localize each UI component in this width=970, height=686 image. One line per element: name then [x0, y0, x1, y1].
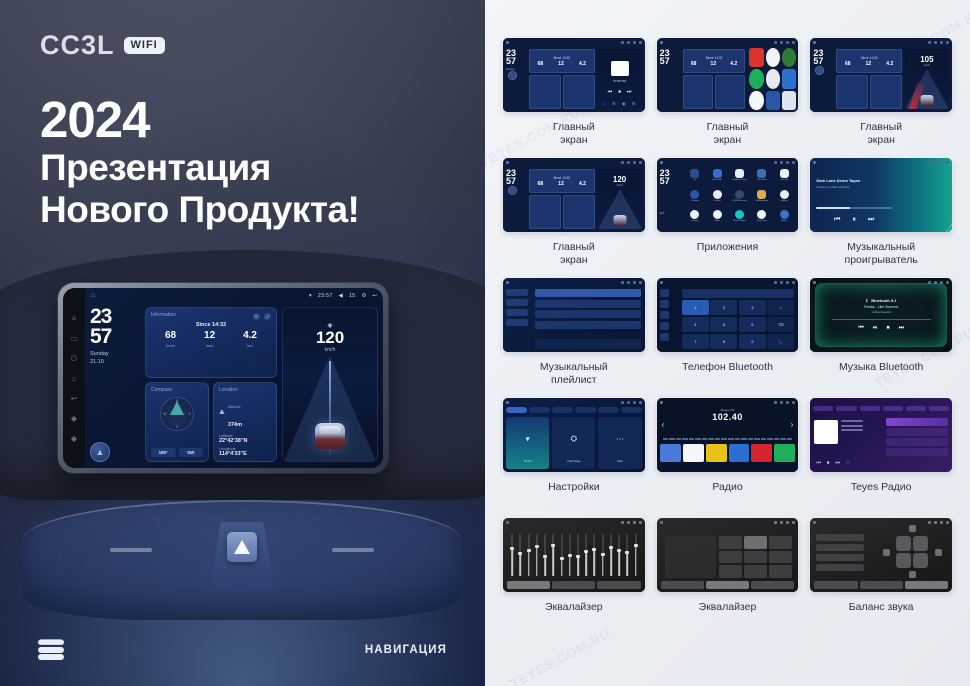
playlist-sidebar[interactable] [503, 286, 531, 352]
side-touch-key-strip[interactable]: ≡ ▭ ⏻ ⌂ ↩ ◆ ◆ [63, 288, 85, 468]
eq-band[interactable] [525, 534, 531, 576]
thumbnail-label: Главныйэкран [860, 121, 902, 147]
gallery-item[interactable]: Region FM 102.40 ‹ › [657, 398, 799, 518]
eq-band[interactable] [509, 534, 515, 576]
hazard-lights-button[interactable] [227, 532, 257, 562]
status-time: 23:57 [318, 293, 333, 299]
app-item[interactable]: Camera [774, 169, 794, 188]
key-1[interactable]: 1 [682, 300, 709, 315]
wifi-badge: WIFI [124, 37, 165, 54]
mini-stat: 4.2 [579, 181, 586, 187]
volume-level: 15 [349, 293, 356, 299]
app-label: Chrome [691, 200, 699, 202]
list-item[interactable] [535, 310, 640, 318]
gear-icon[interactable]: ⚙ [361, 293, 366, 299]
equalizer-tabs[interactable] [814, 581, 948, 589]
navigation-widget[interactable]: ◉ 120 km/h [282, 307, 378, 462]
app-grid[interactable]: fm Bluetooth Keyboard Gear Calculator Ca… [681, 166, 799, 232]
power-key[interactable]: ⏻ [70, 354, 79, 363]
preset-key[interactable] [744, 551, 767, 564]
eq-band[interactable] [633, 534, 639, 576]
eq-band[interactable] [550, 534, 556, 576]
app-label: Camera [780, 179, 788, 181]
thumbnail-image[interactable]: Region FM 102.40 ‹ › [657, 398, 799, 472]
mini-compass-card [836, 75, 868, 109]
teyes-station-list[interactable] [886, 418, 948, 456]
eq-band[interactable] [575, 534, 581, 576]
stat-unit: km/h [165, 343, 176, 348]
mini-status-bar [657, 518, 799, 526]
preset-key[interactable] [769, 565, 792, 578]
app-item[interactable]: Keyboard Gear [729, 169, 749, 188]
preset-key[interactable] [769, 551, 792, 564]
thumbnail-image[interactable] [810, 518, 952, 592]
assistant-icon[interactable] [815, 66, 824, 75]
stat-value: 12 [204, 331, 215, 341]
eq-band[interactable] [624, 534, 630, 576]
radio-scale[interactable] [663, 436, 793, 440]
location-card[interactable]: Location ⛰ Altitude 374m [213, 382, 277, 462]
mini-body [503, 286, 645, 352]
mini-player-bar[interactable] [535, 339, 640, 349]
speed-unit: km/h [905, 64, 949, 67]
thumbnail-image[interactable]: 23 57 Since 14:32 68 12 4.2 [657, 38, 799, 112]
app-item[interactable]: fm [685, 169, 705, 188]
stat-avg-speed: 68 km/h [165, 331, 176, 348]
assistant-icon[interactable]: ▲ [90, 442, 110, 462]
preset-key[interactable] [719, 536, 742, 549]
key-6[interactable]: 6 [739, 317, 766, 332]
gallery-item[interactable]: 1 2 3 ☆ 4 5 6 ⌫ 7 8 9 📞 [657, 278, 799, 398]
thumbnail-label: Главныйэкран [553, 241, 595, 267]
mini-status-bar [503, 398, 645, 406]
location-title: Location [219, 387, 271, 393]
mini-stats: 68 12 4.2 [530, 181, 593, 187]
eq-band[interactable] [558, 534, 564, 576]
thumbnail-image[interactable]: 1 2 3 ☆ 4 5 6 ⌫ 7 8 9 📞 [657, 278, 799, 352]
assistant-icon[interactable] [508, 186, 517, 195]
menu-key[interactable]: ◆ [70, 434, 79, 443]
mini-bluetooth-music: ᛒ Bluetooth 5.1 Freaks - Like Summer Col… [810, 278, 952, 352]
thumbnail-label: Главныйэкран [707, 121, 749, 147]
speed-readout: 120 km/h [598, 175, 642, 187]
refresh-icon[interactable]: ⟳ [253, 313, 260, 320]
app-item[interactable]: Chrome [685, 190, 705, 209]
play-pause-icon[interactable]: ⏯ [873, 325, 878, 332]
altitude-label: Altitude [228, 405, 241, 409]
previous-icon[interactable]: ⏮ [816, 460, 821, 466]
mini-app-drawer [747, 46, 798, 112]
home-key[interactable]: ⌂ [70, 374, 79, 383]
altitude-value: 374m [228, 422, 242, 428]
mini-stat: 4.2 [579, 61, 586, 67]
equalizer-tabs[interactable] [507, 581, 641, 589]
list-item[interactable] [535, 300, 640, 308]
next-icon[interactable]: ⏭ [899, 325, 904, 332]
list-item[interactable] [886, 418, 948, 426]
thumbnail-image[interactable]: 23 57 Since 14:32 68 12 4.2 [810, 38, 952, 112]
eq-band[interactable] [583, 534, 589, 576]
mini-clock-minutes: 57 [660, 57, 681, 65]
app-item[interactable]: Radio [774, 210, 794, 229]
product-logo: CC3L WIFI [40, 32, 165, 59]
mini-equalizer-bars [503, 518, 645, 592]
mute-key[interactable]: ▭ [70, 334, 79, 343]
balance-presets[interactable] [816, 534, 864, 571]
list-item[interactable] [535, 321, 640, 329]
mini-app-grid[interactable] [749, 48, 796, 110]
mini-since: Since 14:32 [530, 176, 593, 180]
key-9[interactable]: 9 [739, 334, 766, 349]
compass-west: W [163, 412, 166, 416]
gallery-item[interactable]: ᛒ Bluetooth 5.1 Freaks - Like Summer Col… [810, 278, 952, 398]
settings-card-car[interactable]: ⛭ CAR Usage [552, 417, 595, 469]
tab-display[interactable] [552, 407, 573, 413]
tab-about[interactable] [621, 407, 642, 413]
thumbnail-label: Баланс звука [849, 601, 914, 614]
gallery-item[interactable]: 23 57 Since 14:32 68 12 4.2 [503, 158, 645, 278]
eq-band[interactable] [608, 534, 614, 576]
tab-sound[interactable] [529, 407, 550, 413]
mini-lower-cards [529, 75, 594, 109]
bt-header: ᛒ Bluetooth 5.1 [866, 298, 897, 303]
stat-value: 4.2 [243, 331, 257, 341]
mini-status-bar [503, 278, 645, 286]
playlist-rows[interactable] [531, 286, 644, 352]
preset-key[interactable] [744, 536, 767, 549]
vent-slat-right [332, 548, 374, 552]
balance-front-button[interactable] [909, 525, 916, 532]
tab-system[interactable] [575, 407, 596, 413]
stat-distance: 4.2 km [243, 331, 257, 348]
preset-key[interactable] [769, 536, 792, 549]
back-key[interactable]: ↩ [70, 394, 79, 403]
gallery-item[interactable]: ▾ WLAN ⛭ CAR Usage ⋯ More Настро [503, 398, 645, 518]
center-vent-panel [22, 500, 462, 620]
mini-nav-panel: 105 km/h [905, 49, 949, 109]
clock-day: Sunday [90, 351, 140, 358]
favorite-icon[interactable]: ♡ [846, 460, 850, 466]
mini-stat: 4.2 [886, 61, 893, 67]
thumbnail-image[interactable]: Dark Lane Demo Tapes Freaks in a bad rom… [810, 158, 952, 232]
app-item[interactable]: Calculator [752, 169, 772, 188]
lower-widget-row: Compass N E S W [145, 382, 277, 462]
car-3d-graphic [613, 215, 626, 225]
track-artist: Coldest beautiful [872, 311, 891, 314]
information-card[interactable]: Information ⟳ ⤢ Since 14:32 68 [145, 307, 277, 378]
thumbnail-label: Эквалайзер [545, 601, 603, 614]
teyes-meta [841, 420, 863, 444]
tune-up-icon[interactable]: › [791, 420, 794, 429]
favorite-icon[interactable]: ☆ [767, 300, 794, 315]
mini-status-bar [503, 518, 645, 526]
app-item[interactable]: Bluetooth [707, 169, 727, 188]
back-arrow-icon[interactable]: ↩ [372, 293, 377, 299]
teyes-tabs[interactable] [813, 406, 949, 411]
visualizer [898, 166, 952, 232]
mini-apps-screen: 23 57 ↩ fm Bluetooth Keyboard Gear Calcu… [657, 158, 799, 232]
gallery-item[interactable]: 23 57 Since 14:32 68 12 4.2 [810, 38, 952, 158]
preset-key[interactable] [719, 551, 742, 564]
mini-clock-minutes: 57 [506, 57, 527, 65]
assistant-icon[interactable] [508, 71, 517, 80]
head-unit-screen-frame: ≡ ▭ ⏻ ⌂ ↩ ◆ ◆ ⌂ ▾ 23:57 ◀ [63, 288, 383, 468]
key-8[interactable]: 8 [710, 334, 737, 349]
head-unit-display[interactable]: ⌂ ▾ 23:57 ◀ 15 ⚙ ↩ 23 [85, 288, 383, 468]
app-item[interactable]: Play Store [752, 210, 772, 229]
thumbnail-image[interactable] [503, 278, 645, 352]
thumbnail-image[interactable]: ᛒ Bluetooth 5.1 Freaks - Like Summer Col… [810, 278, 952, 352]
media-controls[interactable]: ⏮ ⏹ ⏭ ♡ [816, 460, 850, 466]
preset-tile[interactable] [729, 444, 750, 462]
mini-stat: 12 [558, 181, 564, 187]
information-title: Information [151, 312, 176, 318]
mini-body: 23 57 ↩ fm Bluetooth Keyboard Gear Calcu… [657, 166, 799, 232]
previous-icon[interactable]: ⏮ [858, 325, 863, 332]
app-label: Maps [715, 220, 720, 222]
app-item[interactable]: Music Player [729, 210, 749, 229]
gallery-item[interactable]: Эквалайзер [657, 518, 799, 638]
mini-nav-widget: 105 km/h [904, 46, 952, 112]
location-latitude: Latitude 22°42'38"N [219, 434, 271, 444]
app-item[interactable]: Google [685, 210, 705, 229]
mini-stat: 4.2 [730, 61, 737, 67]
thumbnail-image[interactable] [503, 518, 645, 592]
thumbnail-image[interactable]: 23 57 Sunday Since 14:32 68 12 [503, 38, 645, 112]
backspace-icon[interactable]: ⌫ [767, 317, 794, 332]
app-item[interactable]: FileManager [752, 190, 772, 209]
vent-slat-left [110, 548, 152, 552]
preset-tile[interactable] [683, 444, 704, 462]
thumbnail-label: Приложения [697, 241, 758, 254]
mini-info-card: Since 14:32 68 12 4.2 [529, 49, 594, 73]
bt-now-playing: ᛒ Bluetooth 5.1 Freaks - Like Summer Col… [810, 278, 952, 352]
radio-toolbar[interactable] [657, 464, 799, 472]
media-controls[interactable]: ⏮ ⏸ ⏭ [816, 216, 892, 224]
key-3[interactable]: 3 [739, 300, 766, 315]
mini-info-card: Since 14:32 68 12 4.2 [836, 49, 901, 73]
list-item[interactable] [886, 438, 948, 446]
compass-card[interactable]: Compass N E S W [145, 382, 209, 462]
mini-stats: 68 12 4.2 [530, 61, 593, 67]
mini-equalizer-presets [657, 518, 799, 592]
gallery-item[interactable]: Dark Lane Demo Tapes Freaks in a bad rom… [810, 158, 952, 278]
track-title: Dark Lane Demo Tapes [816, 178, 892, 183]
radio-presets[interactable] [660, 444, 796, 462]
mini-status-bar [503, 38, 645, 46]
preset-key[interactable] [719, 565, 742, 578]
settings-card-label: WLAN [506, 460, 549, 463]
app-item[interactable]: DVR Recorder [729, 190, 749, 209]
mini-status-bar [503, 158, 645, 166]
mini-location-card [563, 75, 595, 109]
list-item[interactable] [886, 428, 948, 436]
settings-card-wlan[interactable]: ▾ WLAN [506, 417, 549, 469]
settings-tabs[interactable] [506, 407, 642, 413]
thumbnail-image[interactable]: ⏮ ⏹ ⏭ ♡ [810, 398, 952, 472]
balance-left-button[interactable] [883, 549, 890, 556]
tune-down-icon[interactable]: ‹ [662, 420, 665, 429]
mini-sound-balance [810, 518, 952, 592]
settings-card-label: CAR Usage [552, 460, 595, 463]
eq-band[interactable] [542, 534, 548, 576]
thumbnail-label: Эквалайзер [699, 601, 757, 614]
keypad[interactable]: 1 2 3 ☆ 4 5 6 ⌫ 7 8 9 📞 [682, 300, 794, 349]
status-bar-right: ▾ 23:57 ◀ 15 ⚙ ↩ [309, 293, 377, 299]
eq-band[interactable] [534, 534, 540, 576]
thumbnail-label: Телефон Bluetooth [682, 361, 773, 374]
bluetooth-icon: ᛒ [866, 298, 868, 303]
volume-icon[interactable]: ◀ [338, 293, 342, 299]
pause-icon[interactable]: ⏸ [852, 216, 856, 224]
gallery-item[interactable]: Музыкальныйплейлист [503, 278, 645, 398]
mini-stats: 68 12 4.2 [684, 61, 745, 67]
gallery-item[interactable]: Баланс звука [810, 518, 952, 638]
mini-clock: 23 57 [503, 166, 527, 232]
app-item[interactable]: Maps [707, 210, 727, 229]
eq-band[interactable] [600, 534, 606, 576]
next-icon[interactable]: ⏭ [868, 216, 874, 224]
key-2[interactable]: 2 [710, 300, 737, 315]
mini-clock: 23 57 Sunday [503, 46, 527, 112]
volume-down-key[interactable]: ◆ [70, 414, 79, 423]
balance-pad[interactable] [896, 536, 928, 568]
compass-dial: N E S W [160, 397, 194, 431]
mini-body: 23 57 Sunday Since 14:32 68 12 [503, 46, 645, 112]
thumbnail-image[interactable]: 23 57 Since 14:32 68 12 4.2 [503, 158, 645, 232]
expand-icon[interactable]: ⤢ [264, 313, 271, 320]
gallery-item[interactable]: 23 57 ↩ fm Bluetooth Keyboard Gear Calcu… [657, 158, 799, 278]
mini-playlist [503, 278, 645, 352]
mini-location-card [715, 75, 745, 109]
mini-status-bar [810, 158, 952, 166]
key-4[interactable]: 4 [682, 317, 709, 332]
key-5[interactable]: 5 [710, 317, 737, 332]
tab-general[interactable] [598, 407, 619, 413]
key-7[interactable]: 7 [682, 334, 709, 349]
volume-up-key[interactable]: ≡ [70, 314, 79, 323]
speed-value: 120 [613, 175, 626, 184]
settings-cards[interactable]: ▾ WLAN ⛭ CAR Usage ⋯ More [506, 417, 642, 469]
progress-bar[interactable] [832, 319, 931, 320]
navigation-label: НАВИГАЦИЯ [365, 644, 447, 656]
back-arrow-icon[interactable]: ↩ [660, 210, 681, 217]
mini-body: 1 2 3 ☆ 4 5 6 ⌫ 7 8 9 📞 [657, 286, 799, 352]
stat-value: 68 [165, 331, 176, 341]
stop-icon[interactable]: ⏹ [887, 325, 890, 332]
mini-body: Dark Lane Demo Tapes Freaks in a bad rom… [810, 166, 952, 232]
tab-wlan[interactable] [506, 407, 527, 413]
progress-bar[interactable] [816, 207, 892, 209]
media-controls[interactable]: ⏮ ⏯ ⏹ ⏭ [858, 325, 904, 332]
eq-band[interactable] [567, 534, 573, 576]
mini-stat: 68 [538, 61, 544, 67]
mini-status-bar [810, 518, 952, 526]
radio-tuning[interactable]: ‹ › [662, 420, 794, 429]
mini-home-nav-red: 23 57 Since 14:32 68 12 4.2 [810, 38, 952, 112]
equalizer-tabs[interactable] [661, 581, 795, 589]
app-label: Radio [781, 220, 787, 222]
thumbnail-image[interactable] [657, 518, 799, 592]
mini-stat: 12 [866, 61, 872, 67]
compass-direction: SW [179, 448, 204, 457]
mini-clock-sub: Sunday [506, 68, 527, 71]
app-label: Keyboard Gear [732, 179, 747, 181]
preset-tile[interactable] [660, 444, 681, 462]
left-hero-panel: ≡ ▭ ⏻ ⌂ ↩ ◆ ◆ ⌂ ▾ 23:57 ◀ [0, 0, 485, 686]
preset-tile[interactable] [751, 444, 772, 462]
gallery-item[interactable]: Эквалайзер [503, 518, 645, 638]
equalizer-dual-sliders[interactable] [665, 536, 716, 578]
media-controls[interactable]: ⏮⏹⏭ [598, 89, 642, 95]
home-icon[interactable]: ⌂ [91, 292, 95, 299]
clock-hours: 23 [90, 307, 140, 327]
previous-icon[interactable]: ⏮ [834, 216, 840, 224]
app-label: Play Store [757, 220, 767, 222]
speed-readout: ◉ 120 km/h [283, 322, 377, 353]
eq-band[interactable] [517, 534, 523, 576]
mini-settings: ▾ WLAN ⛭ CAR Usage ⋯ More [503, 398, 645, 472]
app-item[interactable]: Control [707, 190, 727, 209]
eq-band[interactable] [616, 534, 622, 576]
compass-title: Compass [151, 387, 203, 393]
teyes-now-playing [814, 420, 876, 444]
equalizer-preset-keys[interactable] [719, 536, 793, 578]
eq-band[interactable] [591, 534, 597, 576]
mini-stat: 68 [538, 181, 544, 187]
mini-since: Since 14:32 [684, 56, 745, 60]
mini-stats: 68 12 4.2 [837, 61, 900, 67]
next-icon[interactable]: ⏭ [835, 460, 840, 466]
list-item[interactable] [535, 289, 640, 297]
mini-clock: 23 57 ↩ [657, 166, 681, 232]
mini-lower-cards [683, 75, 746, 109]
equalizer-sliders[interactable] [509, 534, 639, 576]
call-icon[interactable]: 📞 [767, 334, 794, 349]
head-unit-device: ≡ ▭ ⏻ ⌂ ↩ ◆ ◆ ⌂ ▾ 23:57 ◀ [58, 283, 388, 473]
app-item[interactable]: Gallery [774, 190, 794, 209]
location-altitude: ⛰ Altitude 374m [219, 395, 271, 431]
app-label: Gallery [781, 200, 788, 202]
balance-right-button[interactable] [935, 549, 942, 556]
preset-tile[interactable] [706, 444, 727, 462]
preset-key[interactable] [744, 565, 767, 578]
mini-cards: Since 14:32 68 12 4.2 [527, 166, 596, 232]
list-item[interactable] [886, 448, 948, 456]
phone-number-input[interactable] [682, 289, 794, 298]
gallery-item[interactable]: 23 57 Since 14:32 68 12 4.2 [657, 38, 799, 158]
mini-clock-minutes: 57 [506, 177, 527, 185]
thumbnail-image[interactable]: 23 57 ↩ fm Bluetooth Keyboard Gear Calcu… [657, 158, 799, 232]
car-3d-graphic [315, 423, 345, 449]
mini-teyes-radio: ⏮ ⏹ ⏭ ♡ [810, 398, 952, 472]
phone-sidebar[interactable] [657, 286, 678, 352]
status-bar: ⌂ ▾ 23:57 ◀ 15 ⚙ ↩ [85, 288, 383, 303]
preset-tile[interactable] [774, 444, 795, 462]
media-quick-bar[interactable]: ♪☰◉⚙ [601, 101, 639, 106]
headline-line-2: Нового Продукта! [40, 189, 359, 230]
clock-widget[interactable]: 23 57 Sunday 21.10 ▲ [90, 307, 140, 462]
settings-card-more[interactable]: ⋯ More [598, 417, 641, 469]
mini-location-card [563, 195, 595, 229]
gallery-item[interactable]: 23 57 Sunday Since 14:32 68 12 [503, 38, 645, 158]
dialer[interactable]: 1 2 3 ☆ 4 5 6 ⌫ 7 8 9 📞 [678, 286, 798, 352]
thumbnail-image[interactable]: ▾ WLAN ⛭ CAR Usage ⋯ More [503, 398, 645, 472]
stop-icon[interactable]: ⏹ [827, 460, 830, 466]
mini-info-card: Since 14:32 68 12 4.2 [529, 169, 594, 193]
balance-rear-button[interactable] [909, 571, 916, 578]
gallery-item[interactable]: ⏮ ⏹ ⏭ ♡ Teyes Радио [810, 398, 952, 518]
